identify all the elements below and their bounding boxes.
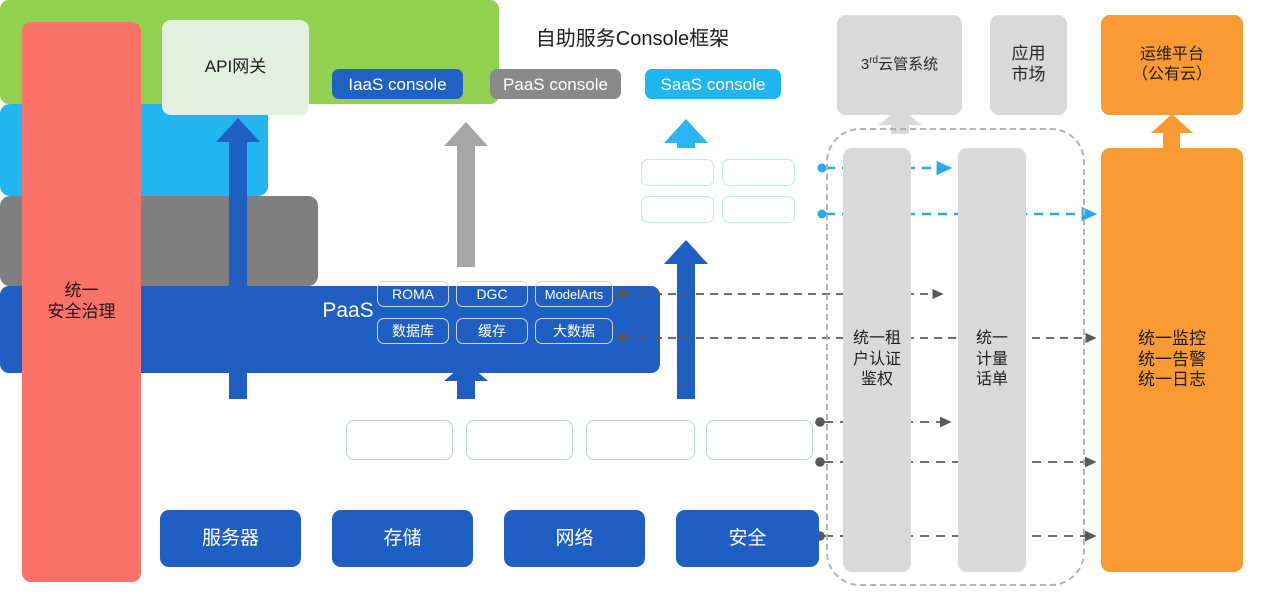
ops-panel-line2: 统一告警 <box>1138 350 1206 369</box>
ops-platform-box[interactable]: 运维平台 （公有云） <box>1101 15 1243 115</box>
third-cloud-rest: 云管系统 <box>878 56 938 73</box>
auth-line3: 鉴权 <box>861 371 893 388</box>
paas-item-dgc[interactable]: DGC <box>456 281 528 307</box>
paas-item-bigdata[interactable]: 大数据 <box>535 318 613 344</box>
resource-box-network[interactable]: 网络 <box>504 510 645 567</box>
arrow-paas-to-console <box>444 122 488 267</box>
paas-item-roma[interactable]: ROMA <box>377 281 449 307</box>
third-cloud-superscript: rd <box>869 55 878 66</box>
auth-line1: 统一租 <box>853 330 901 347</box>
security-governance-panel[interactable]: 统一 安全治理 <box>22 22 141 582</box>
arrow-ops-panel-to-platform <box>1151 114 1193 149</box>
app-market-box[interactable]: 应用 市场 <box>990 15 1067 115</box>
unified-infrastructure-label: 统一基础设施服务 <box>172 427 340 454</box>
saas-layer-label: SaaS <box>563 178 635 202</box>
infra-item-cce[interactable]: CCE <box>706 420 813 460</box>
saas-item-blockchain[interactable]: 区块链 <box>641 159 714 186</box>
api-gateway-label: API网关 <box>205 57 266 78</box>
ops-platform-line2: （公有云） <box>1132 66 1212 83</box>
saas-item-iot[interactable]: IoT <box>722 159 795 186</box>
resource-box-server[interactable]: 服务器 <box>160 510 301 567</box>
saas-console-chip[interactable]: SaaS console <box>645 69 781 99</box>
infra-item-compute[interactable]: Compute <box>346 420 453 460</box>
third-party-cloud-mgmt-box[interactable]: 3rd云管系统 <box>837 15 962 115</box>
saas-item-desktop-cloud[interactable]: 桌面云 <box>722 196 795 223</box>
meter-line3: 话单 <box>976 371 1008 388</box>
architecture-diagram: 统一 安全治理 API网关 自助服务Console框架 IaaS console… <box>0 0 1265 605</box>
paas-item-modelarts[interactable]: ModelArts <box>535 281 613 307</box>
security-governance-line1: 统一 <box>65 281 99 300</box>
iaas-console-chip[interactable]: IaaS console <box>332 69 463 99</box>
app-market-line1: 应用 <box>1012 44 1046 63</box>
meter-line2: 计量 <box>976 351 1008 368</box>
security-governance-line2: 安全治理 <box>48 302 116 321</box>
unified-tenant-auth-column[interactable]: 统一租 户认证 鉴权 <box>843 148 911 572</box>
resource-box-storage[interactable]: 存储 <box>332 510 473 567</box>
console-framework-title: 自助服务Console框架 <box>0 22 1265 51</box>
arrow-infra-to-saas <box>664 240 708 399</box>
saas-item-video-cloud[interactable]: 视频云 <box>641 196 714 223</box>
resource-box-security[interactable]: 安全 <box>676 510 819 567</box>
paas-layer-label: PaaS <box>312 299 384 323</box>
infra-item-storage[interactable]: Storage <box>466 420 573 460</box>
infra-item-network[interactable]: Network <box>586 420 695 460</box>
arrow-infra-to-api-gateway <box>216 118 260 399</box>
ops-panel-line3: 统一日志 <box>1138 370 1206 389</box>
ops-panel-line1: 统一监控 <box>1138 329 1206 348</box>
paas-console-chip[interactable]: PaaS console <box>490 69 621 99</box>
auth-line2: 户认证 <box>853 351 901 368</box>
ops-platform-line1: 运维平台 <box>1140 46 1204 63</box>
ops-capability-panel[interactable]: 统一监控 统一告警 统一日志 <box>1101 148 1243 572</box>
app-market-line2: 市场 <box>1012 65 1046 84</box>
paas-item-cache[interactable]: 缓存 <box>456 318 528 344</box>
arrow-saas-to-saas-console <box>664 119 708 148</box>
unified-metering-billing-column[interactable]: 统一 计量 话单 <box>958 148 1026 572</box>
paas-item-database[interactable]: 数据库 <box>377 318 449 344</box>
third-cloud-prefix: 3 <box>861 56 869 73</box>
meter-line1: 统一 <box>976 330 1008 347</box>
arrow-infra-to-paas <box>444 362 488 399</box>
